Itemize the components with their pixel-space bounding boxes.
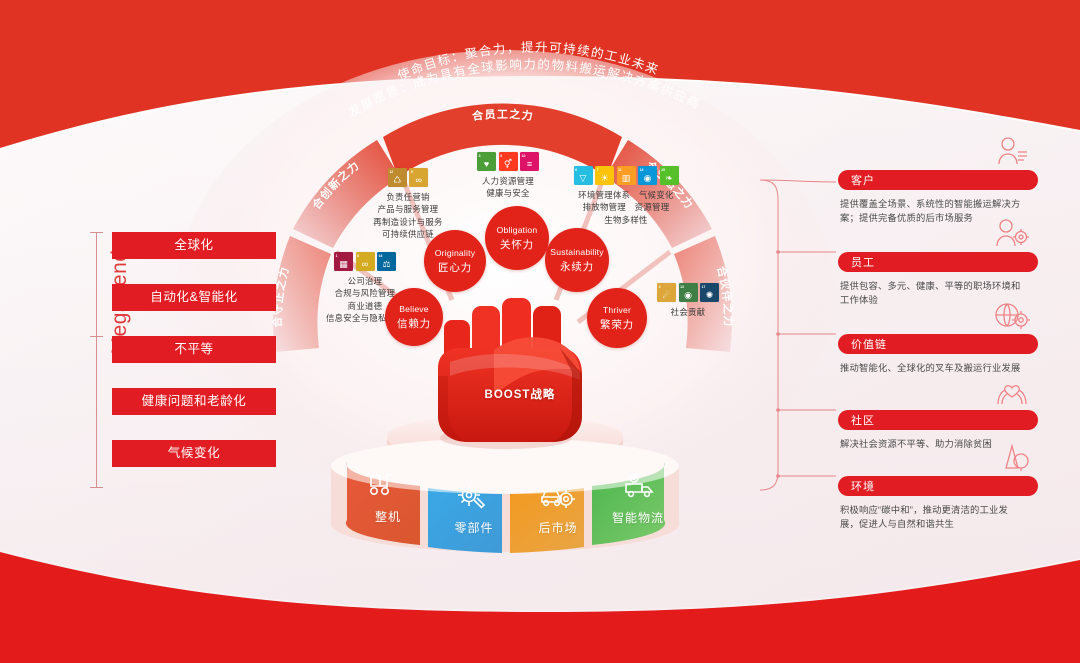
boost-circle-sustainability[interactable]: Sustainability永续力	[545, 228, 609, 292]
wedge-topics: 环境管理体系 气候变化 排放物管理 资源管理 生物多样性	[570, 189, 682, 226]
infographic-canvas: 使命目标：聚合力，提升可持续的工业未来 发展愿景：成为具有全球影响力的物料搬运解…	[0, 0, 1080, 663]
person-list-icon	[996, 136, 1030, 171]
megatrend-item-1[interactable]: 自动化&智能化	[112, 284, 276, 311]
sdg-tile-icon: 9∞	[409, 168, 428, 187]
megatrend-item-2[interactable]: 不平等	[112, 336, 276, 363]
stakeholder-card-employee: 员工提供包容、多元、健康、平等的职场环境和工作体验	[838, 252, 1038, 307]
megatrend-item-4[interactable]: 气候变化	[112, 440, 276, 467]
stakeholder-card-environment: 环境积极响应“碳中和”，推动更清洁的工业发展，促进人与自然和谐共生	[838, 476, 1038, 531]
boost-strategy-label: BOOST战略	[430, 386, 610, 402]
megatrend-axis	[96, 232, 97, 488]
boost-circle-en: Sustainability	[550, 247, 603, 257]
sdg-tile-icon: 8∞	[356, 252, 375, 271]
stakeholder-card-customer: 客户提供覆盖全场景、系统性的智能搬运解决方案；提供完备优质的后市场服务	[838, 170, 1038, 225]
megatrend-list: 全球化自动化&智能化不平等健康问题和老龄化气候变化	[112, 232, 276, 492]
segment-label-parts[interactable]: 零部件	[444, 519, 504, 536]
wedge-topics: 人力资源管理 健康与安全	[458, 175, 558, 200]
sdg-icon-row: 3♥5⚥10≡	[458, 152, 558, 171]
segment-label-machine[interactable]: 整机	[358, 508, 418, 525]
segment-label-aftermarket[interactable]: 后市场	[528, 519, 588, 536]
megatrend-panel: Megatrend 全球化自动化&智能化不平等健康问题和老龄化气候变化	[96, 232, 276, 488]
sdg-tile-icon: 11▥	[617, 166, 636, 185]
fist-illustration	[438, 298, 582, 449]
megatrend-item-3[interactable]: 健康问题和老龄化	[112, 388, 276, 415]
boost-circle-obligation[interactable]: Obligation关怀力	[485, 206, 549, 270]
stakeholder-card-valuechain: 价值链推动智能化、全球化的叉车及搬运行业发展	[838, 334, 1038, 375]
sdg-icon-row: 12♺9∞	[348, 168, 468, 187]
megatrend-axis-cap-bottom	[90, 487, 103, 488]
hands-heart-icon	[994, 376, 1030, 411]
sdg-tile-icon: 16⚖	[377, 252, 396, 271]
sdg-tile-icon: 2☄	[657, 283, 676, 302]
stakeholder-body-environment: 积极响应“碳中和”，推动更清洁的工业发展，促进人与自然和谐共生	[838, 503, 1026, 531]
boost-circle-en: Believe	[399, 304, 429, 314]
gear-wrench-icon	[455, 482, 489, 517]
sdg-tile-icon: 6▽	[574, 166, 593, 185]
boost-circle-cn: 繁荣力	[600, 317, 634, 332]
sdg-tile-icon: 17✺	[700, 283, 719, 302]
car-service-icon	[540, 482, 576, 515]
person-gear-icon	[994, 218, 1030, 253]
sdg-icon-row: 6▽7☀11▥14◉15❧	[570, 166, 682, 185]
sdg-tile-icon: 1▦	[334, 252, 353, 271]
segment-label-logistics[interactable]: 智能物流	[608, 509, 668, 526]
boost-circle-en: Originality	[435, 248, 475, 258]
stakeholder-title-community[interactable]: 社区	[838, 410, 1038, 430]
boost-circle-cn: 关怀力	[500, 237, 534, 252]
stakeholder-title-environment[interactable]: 环境	[838, 476, 1038, 496]
wedge-topics: 社会贡献	[636, 306, 740, 318]
sdg-tile-icon: 5⚥	[499, 152, 518, 171]
sdg-icon-row: 1▦8∞16⚖	[300, 252, 430, 271]
boost-circle-en: Thriver	[603, 305, 631, 315]
sdg-tile-icon: 7☀	[595, 166, 614, 185]
sdg-tile-icon: 15❧	[660, 166, 679, 185]
sdg-tile-icon: 10≡	[520, 152, 539, 171]
stakeholder-title-customer[interactable]: 客户	[838, 170, 1038, 190]
stakeholder-sidebar: 客户提供覆盖全场景、系统性的智能搬运解决方案；提供完备优质的后市场服务员工提供包…	[838, 150, 1038, 550]
megatrend-axis-cap-mid	[90, 336, 103, 337]
megatrend-item-0[interactable]: 全球化	[112, 232, 276, 259]
stakeholder-title-employee[interactable]: 员工	[838, 252, 1038, 272]
boost-circle-thriver[interactable]: Thriver繁荣力	[587, 288, 647, 348]
sdg-tile-icon: 3♥	[477, 152, 496, 171]
sdg-tile-icon: 12♺	[388, 168, 407, 187]
boost-circle-en: Obligation	[497, 225, 538, 235]
forklift-icon	[366, 470, 400, 503]
boost-circle-cn: 匠心力	[438, 260, 472, 275]
boost-circle-originality[interactable]: Originality匠心力	[424, 230, 486, 292]
boost-circle-cn: 信赖力	[397, 316, 431, 331]
wedge-employee: 3♥5⚥10≡人力资源管理 健康与安全	[458, 152, 558, 200]
boost-circle-cn: 永续力	[560, 259, 594, 274]
globe-gear-icon	[994, 300, 1030, 335]
stakeholder-title-valuechain[interactable]: 价值链	[838, 334, 1038, 354]
smart-truck-icon	[622, 472, 658, 505]
sdg-tile-icon: 14◉	[638, 166, 657, 185]
wedge-partner: 2☄13◉17✺社会贡献	[636, 283, 740, 318]
sdg-icon-row: 2☄13◉17✺	[636, 283, 740, 302]
tree-leaf-icon	[996, 442, 1030, 477]
sdg-tile-icon: 13◉	[679, 283, 698, 302]
megatrend-axis-cap-top	[90, 232, 103, 233]
boost-circle-believe[interactable]: Believe信赖力	[385, 288, 443, 346]
stakeholder-body-valuechain: 推动智能化、全球化的叉车及搬运行业发展	[838, 361, 1026, 375]
wedge-ecology: 6▽7☀11▥14◉15❧环境管理体系 气候变化 排放物管理 资源管理 生物多样…	[570, 166, 682, 226]
